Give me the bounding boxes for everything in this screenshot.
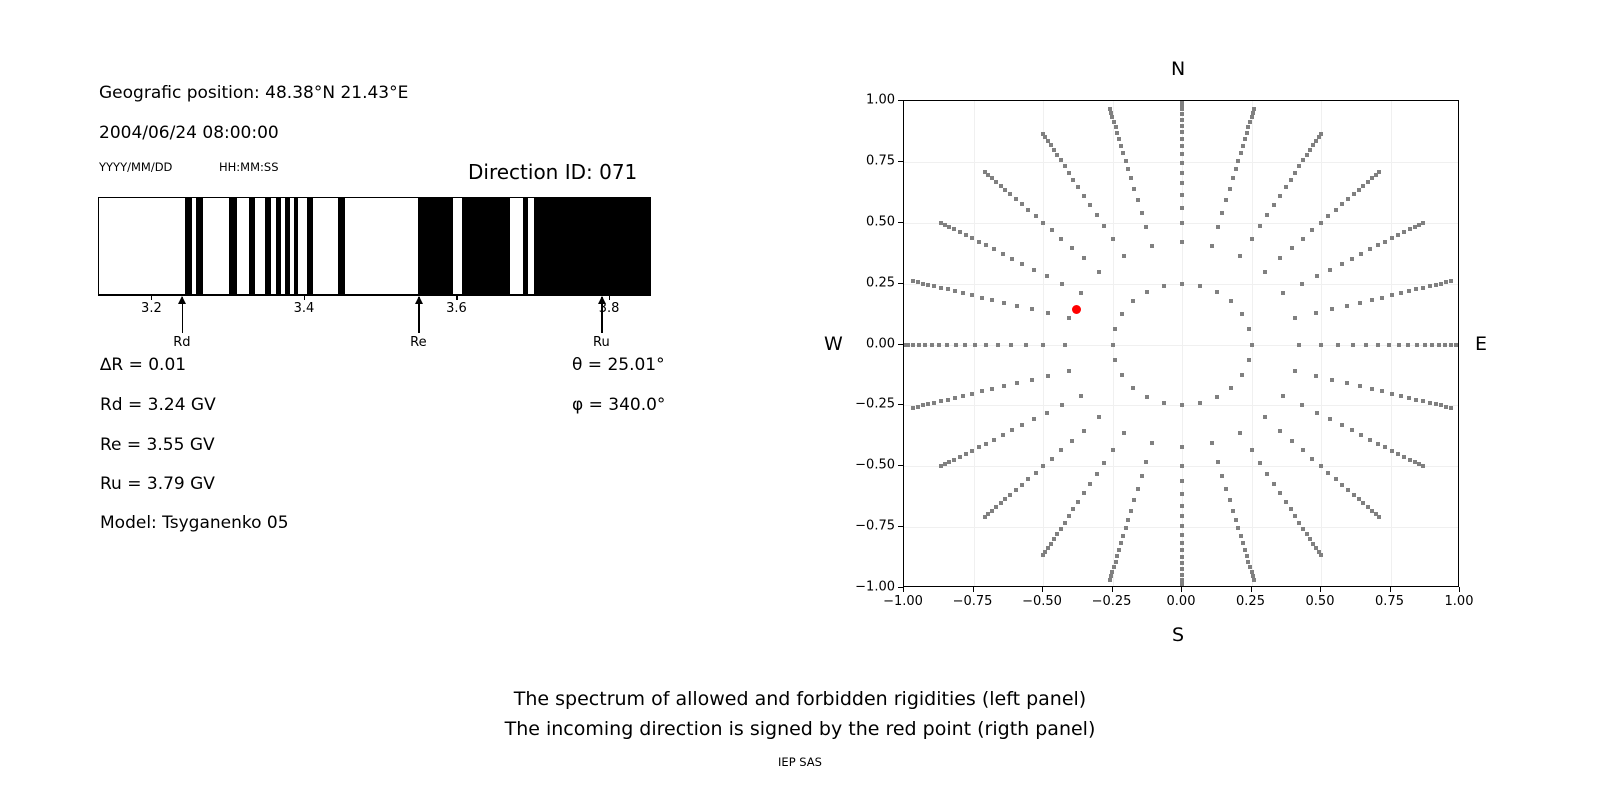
- scatter-point: [1117, 548, 1121, 552]
- scatter-point: [1071, 178, 1075, 182]
- scatter-point: [1399, 394, 1403, 398]
- polar-y-tick: [898, 283, 903, 284]
- scatter-point: [1109, 111, 1113, 115]
- scatter-point: [1350, 257, 1354, 261]
- scatter-point: [1366, 180, 1370, 184]
- scatter-point: [1428, 401, 1432, 405]
- scatter-point: [939, 286, 943, 290]
- polar-x-tick-label: −0.75: [953, 594, 993, 609]
- scatter-point: [1180, 555, 1184, 559]
- forbidden-band: [418, 198, 453, 294]
- scatter-point: [1026, 208, 1030, 212]
- scatter-point: [1049, 542, 1053, 546]
- scatter-point: [1210, 244, 1214, 248]
- scatter-point: [980, 296, 984, 300]
- scatter-point: [1060, 282, 1064, 286]
- scatter-point: [1020, 423, 1024, 427]
- scatter-point: [1020, 483, 1024, 487]
- compass-label-east: E: [1475, 333, 1487, 355]
- scatter-point: [926, 283, 930, 287]
- scatter-point: [970, 392, 974, 396]
- scatter-point: [1045, 411, 1049, 415]
- scatter-point: [1407, 396, 1411, 400]
- incoming-direction-red-point: [1072, 305, 1081, 314]
- scatter-point: [1281, 394, 1285, 398]
- scatter-point: [911, 343, 915, 347]
- scatter-point: [1067, 171, 1071, 175]
- scatter-point: [984, 442, 988, 446]
- scatter-point: [1034, 214, 1038, 218]
- scatter-point: [926, 402, 930, 406]
- polar-y-tick: [898, 344, 903, 345]
- scatter-point: [1301, 158, 1305, 162]
- compass-label-north: N: [1171, 58, 1185, 80]
- scatter-point: [1340, 423, 1344, 427]
- scatter-point: [1336, 343, 1340, 347]
- time-format-hint: HH:MM:SS: [219, 160, 279, 174]
- scatter-point: [1224, 198, 1228, 202]
- scatter-point: [1310, 457, 1314, 461]
- scatter-point: [1334, 477, 1338, 481]
- scatter-point: [1180, 445, 1184, 449]
- scatter-point: [1220, 211, 1224, 215]
- scatter-point: [1097, 415, 1101, 419]
- scatter-point: [1180, 524, 1184, 528]
- scatter-point: [932, 284, 936, 288]
- scatter-point: [996, 343, 1000, 347]
- scatter-point: [1034, 471, 1038, 475]
- scatter-point: [1345, 381, 1349, 385]
- scatter-point: [1180, 567, 1184, 571]
- scatter-point: [1413, 225, 1417, 229]
- scatter-point: [1263, 415, 1267, 419]
- scatter-point: [992, 247, 996, 251]
- scatter-point: [970, 293, 974, 297]
- scatter-point: [1258, 461, 1262, 465]
- scatter-point: [1059, 237, 1063, 241]
- polar-y-tick: [898, 161, 903, 162]
- scatter-point: [1246, 560, 1250, 564]
- polar-y-tick: [898, 100, 903, 101]
- scatter-point: [1278, 194, 1282, 198]
- scatter-point: [1010, 257, 1014, 261]
- scatter-point: [1326, 471, 1330, 475]
- scatter-point: [1319, 343, 1323, 347]
- scatter-point: [1180, 107, 1184, 111]
- scatter-point: [916, 405, 920, 409]
- scatter-point: [984, 343, 988, 347]
- scatter-point: [1247, 327, 1251, 331]
- scatter-point: [1119, 541, 1123, 545]
- scatter-point: [1041, 464, 1045, 468]
- arrow-up-icon: [415, 296, 423, 304]
- scatter-point: [953, 289, 957, 293]
- scatter-point: [1293, 369, 1297, 373]
- scatter-point: [1311, 542, 1315, 546]
- scatter-point: [1357, 497, 1361, 501]
- scatter-point: [1397, 343, 1401, 347]
- scatter-point: [1063, 164, 1067, 168]
- scatter-point: [1079, 394, 1083, 398]
- scatter-point: [977, 240, 981, 244]
- scatter-point: [1180, 118, 1184, 122]
- scatter-point: [1095, 213, 1099, 217]
- param-theta: θ = 25.01°: [572, 355, 665, 375]
- scatter-point: [1180, 137, 1184, 141]
- scatter-point: [1108, 107, 1112, 111]
- scatter-point: [1052, 148, 1056, 152]
- scatter-point: [1383, 445, 1387, 449]
- scatter-point: [1119, 144, 1123, 148]
- scatter-point: [1112, 120, 1116, 124]
- forbidden-band: [338, 198, 346, 294]
- scatter-point: [1162, 284, 1166, 288]
- scatter-point: [1111, 237, 1115, 241]
- scatter-point: [1272, 203, 1276, 207]
- scatter-point: [1415, 343, 1419, 347]
- scatter-point: [1358, 301, 1362, 305]
- scatter-point: [1131, 386, 1135, 390]
- scatter-point: [1368, 438, 1372, 442]
- marker-label: Rd: [173, 335, 190, 350]
- scatter-point: [1111, 343, 1115, 347]
- scatter-point: [1136, 487, 1140, 491]
- scatter-point: [1231, 509, 1235, 513]
- scatter-point: [1234, 167, 1238, 171]
- scatter-point: [1281, 291, 1285, 295]
- scatter-point: [953, 396, 957, 400]
- scatter-point: [1364, 343, 1368, 347]
- scatter-point: [990, 509, 994, 513]
- polar-y-tick-label: −0.75: [841, 519, 895, 534]
- polar-x-tick: [973, 587, 974, 592]
- scatter-point: [1113, 327, 1117, 331]
- polar-y-tick: [898, 526, 903, 527]
- scatter-point: [1346, 197, 1350, 201]
- scatter-point: [1278, 491, 1282, 495]
- scatter-point: [964, 452, 968, 456]
- scatter-point: [1330, 378, 1334, 382]
- scatter-point: [1180, 130, 1184, 134]
- scatter-point: [961, 394, 965, 398]
- scatter-point: [1290, 439, 1294, 443]
- scatter-point: [921, 403, 925, 407]
- forbidden-band: [307, 198, 313, 294]
- scatter-point: [1314, 139, 1318, 143]
- scatter-point: [958, 230, 962, 234]
- scatter-point: [1301, 527, 1305, 531]
- polar-x-tick: [1042, 587, 1043, 592]
- scatter-point: [1079, 291, 1083, 295]
- forbidden-band: [294, 198, 298, 294]
- scatter-point: [1414, 398, 1418, 402]
- scatter-point: [990, 298, 994, 302]
- scatter-point: [1293, 316, 1297, 320]
- scatter-point: [923, 343, 927, 347]
- rigidity-axis-tick: [304, 295, 305, 300]
- scatter-point: [1390, 236, 1394, 240]
- scatter-point: [945, 343, 949, 347]
- scatter-point: [1180, 504, 1184, 508]
- scatter-point: [1293, 171, 1297, 175]
- scatter-point: [990, 176, 994, 180]
- scatter-point: [1180, 112, 1184, 116]
- scatter-point: [1305, 153, 1309, 157]
- scatter-point: [1041, 553, 1045, 557]
- polar-x-tick-label: −1.00: [883, 594, 923, 609]
- forbidden-band: [462, 198, 510, 294]
- scatter-point: [1120, 312, 1124, 316]
- scatter-point: [1122, 254, 1126, 258]
- polar-y-tick-label: −0.50: [841, 458, 895, 473]
- scatter-point: [1297, 164, 1301, 168]
- forbidden-band: [285, 198, 289, 294]
- polar-x-tick-label: −0.25: [1092, 594, 1132, 609]
- scatter-point: [984, 243, 988, 247]
- scatter-point: [1243, 548, 1247, 552]
- scatter-point: [1305, 532, 1309, 536]
- scatter-point: [1421, 399, 1425, 403]
- rigidity-axis-tick-label: 3.2: [141, 301, 162, 316]
- scatter-point: [1067, 316, 1071, 320]
- scatter-point: [1250, 448, 1254, 452]
- scatter-point: [1408, 227, 1412, 231]
- scatter-point: [930, 343, 934, 347]
- scatter-point: [1449, 343, 1453, 347]
- scatter-point: [1180, 171, 1184, 175]
- scatter-point: [937, 343, 941, 347]
- scatter-point: [1140, 474, 1144, 478]
- scatter-point: [1421, 286, 1425, 290]
- scatter-point: [1076, 500, 1080, 504]
- scatter-point: [1097, 270, 1101, 274]
- scatter-point: [1231, 176, 1235, 180]
- scatter-point: [1297, 343, 1301, 347]
- scatter-point: [1162, 401, 1166, 405]
- scatter-point: [1067, 514, 1071, 518]
- scatter-point: [1239, 534, 1243, 538]
- scatter-point: [1421, 221, 1425, 225]
- scatter-point: [1278, 429, 1282, 433]
- scatter-point: [1082, 256, 1086, 260]
- scatter-point: [1180, 221, 1184, 225]
- scatter-point: [1250, 115, 1254, 119]
- scatter-point: [958, 455, 962, 459]
- polar-y-tick-label: 0.75: [841, 153, 895, 168]
- param-delta-r: ∆R = 0.01: [100, 355, 186, 375]
- rigidity-axis-tick: [456, 295, 457, 300]
- scatter-point: [999, 501, 1003, 505]
- scatter-point: [1314, 311, 1318, 315]
- scatter-point: [964, 233, 968, 237]
- polar-y-tick-label: 0.50: [841, 214, 895, 229]
- scatter-point: [1041, 343, 1045, 347]
- scatter-point: [1258, 224, 1262, 228]
- scatter-point: [1063, 521, 1067, 525]
- polar-x-tick: [1112, 587, 1113, 592]
- scatter-point: [911, 279, 915, 283]
- scatter-point: [1140, 211, 1144, 215]
- scatter-point: [1180, 144, 1184, 148]
- param-re: Re = 3.55 GV: [100, 435, 215, 455]
- scatter-point: [1002, 301, 1006, 305]
- scatter-point: [1319, 221, 1323, 225]
- scatter-point: [1240, 373, 1244, 377]
- scatter-point: [1046, 311, 1050, 315]
- scatter-point: [1082, 491, 1086, 495]
- polar-x-tick: [1181, 587, 1182, 592]
- scatter-point: [1370, 298, 1374, 302]
- scatter-point: [1314, 374, 1318, 378]
- scatter-point: [1131, 299, 1135, 303]
- scatter-point: [939, 399, 943, 403]
- scatter-point: [1145, 395, 1149, 399]
- geographic-position-label: Geografic position: 48.38°N 21.43°E: [99, 83, 408, 103]
- scatter-point: [1120, 373, 1124, 377]
- scatter-point: [994, 505, 998, 509]
- scatter-point: [954, 343, 958, 347]
- scatter-point: [1132, 187, 1136, 191]
- polar-x-tick: [1390, 587, 1391, 592]
- scatter-point: [1046, 139, 1050, 143]
- scatter-point: [1236, 159, 1240, 163]
- scatter-point: [1121, 151, 1125, 155]
- scatter-point: [994, 180, 998, 184]
- scatter-point: [1399, 291, 1403, 295]
- scatter-point: [1145, 290, 1149, 294]
- scatter-point: [947, 460, 951, 464]
- scatter-point: [1180, 152, 1184, 156]
- polar-x-tick-label: 0.50: [1306, 594, 1335, 609]
- rigidity-axis-tick-label: 3.4: [294, 301, 315, 316]
- scatter-point: [1396, 233, 1400, 237]
- scatter-point: [977, 445, 981, 449]
- scatter-point: [1180, 573, 1184, 577]
- scatter-point: [983, 515, 987, 519]
- scatter-point: [1423, 343, 1427, 347]
- scatter-point: [1311, 143, 1315, 147]
- polar-y-tick-label: 1.00: [841, 93, 895, 108]
- scatter-point: [1238, 431, 1242, 435]
- scatter-point: [1328, 268, 1332, 272]
- scatter-point: [1248, 120, 1252, 124]
- scatter-point: [1132, 498, 1136, 502]
- scatter-point: [1110, 570, 1114, 574]
- scatter-point: [1408, 458, 1412, 462]
- direction-id-label: Direction ID: 071: [468, 160, 637, 184]
- forbidden-band: [249, 198, 255, 294]
- scatter-point: [1041, 132, 1045, 136]
- scatter-point: [943, 462, 947, 466]
- scatter-point: [1272, 482, 1276, 486]
- scatter-point: [1449, 406, 1453, 410]
- scatter-point: [1216, 460, 1220, 464]
- scatter-point: [1003, 188, 1007, 192]
- scatter-point: [1284, 185, 1288, 189]
- scatter-point: [1220, 474, 1224, 478]
- scatter-point: [1180, 161, 1184, 165]
- arrow-up-icon: [598, 296, 606, 304]
- rigidity-spectrum-bar: [98, 197, 651, 295]
- scatter-point: [903, 343, 906, 347]
- scatter-point: [1319, 132, 1323, 136]
- scatter-point: [1263, 270, 1267, 274]
- scatter-point: [1265, 213, 1269, 217]
- scatter-point: [1390, 449, 1394, 453]
- scatter-point: [1250, 343, 1254, 347]
- scatter-point: [1376, 442, 1380, 446]
- polar-x-tick-label: 0.75: [1375, 594, 1404, 609]
- scatter-point: [1070, 439, 1074, 443]
- scatter-point: [1406, 343, 1410, 347]
- scatter-point: [1239, 151, 1243, 155]
- scatter-point: [1449, 279, 1453, 283]
- scatter-point: [1228, 187, 1232, 191]
- scatter-point: [1002, 384, 1006, 388]
- scatter-point: [1180, 492, 1184, 496]
- scatter-point: [1402, 230, 1406, 234]
- scatter-point: [1063, 343, 1067, 347]
- scatter-point: [983, 170, 987, 174]
- scatter-point: [1070, 246, 1074, 250]
- scatter-point: [1050, 457, 1054, 461]
- scatter-point: [1067, 369, 1071, 373]
- scatter-point: [980, 389, 984, 393]
- scatter-point: [1278, 256, 1282, 260]
- scatter-point: [1060, 403, 1064, 407]
- scatter-point: [1352, 192, 1356, 196]
- polar-x-tick-label: 0.25: [1236, 594, 1265, 609]
- polar-x-tick-label: 1.00: [1445, 594, 1474, 609]
- scatter-point: [1180, 533, 1184, 537]
- scatter-point: [1180, 103, 1184, 107]
- scatter-point: [1180, 240, 1184, 244]
- scatter-point: [1245, 554, 1249, 558]
- scatter-point: [1236, 526, 1240, 530]
- scatter-point: [1041, 221, 1045, 225]
- forbidden-band: [229, 198, 237, 294]
- scatter-point: [917, 343, 921, 347]
- scatter-point: [1377, 515, 1381, 519]
- scatter-point: [1383, 240, 1387, 244]
- scatter-point: [1126, 518, 1130, 522]
- scatter-point: [1439, 282, 1443, 286]
- scatter-point: [1359, 252, 1363, 256]
- forbidden-band: [523, 198, 528, 294]
- scatter-point: [1015, 304, 1019, 308]
- scatter-point: [1108, 578, 1112, 582]
- scatter-point: [1334, 208, 1338, 212]
- scatter-point: [1297, 521, 1301, 525]
- scatter-point: [1345, 304, 1349, 308]
- scatter-point: [1129, 509, 1133, 513]
- scatter-point: [1351, 343, 1355, 347]
- scatter-point: [1234, 518, 1238, 522]
- scatter-point: [1215, 395, 1219, 399]
- datetime-label: 2004/06/24 08:00:00: [99, 123, 279, 143]
- scatter-point: [1095, 472, 1099, 476]
- scatter-point: [1020, 262, 1024, 266]
- scatter-point: [1082, 429, 1086, 433]
- scatter-point: [992, 438, 996, 442]
- polar-y-tick: [898, 404, 903, 405]
- scatter-point: [906, 343, 910, 347]
- scatter-point: [1241, 144, 1245, 148]
- polar-y-tick-label: −0.25: [841, 397, 895, 412]
- scatter-point: [1049, 143, 1053, 147]
- scatter-point: [916, 280, 920, 284]
- scatter-point: [1430, 343, 1434, 347]
